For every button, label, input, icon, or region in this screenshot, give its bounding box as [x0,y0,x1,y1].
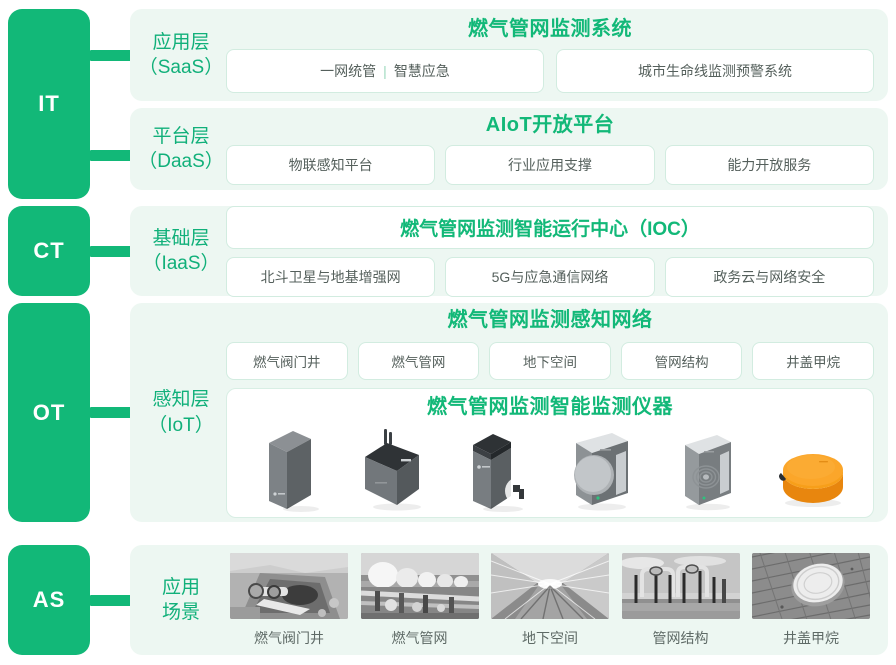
connector-it-daas [90,150,132,161]
orange-round-manhole-sensor-icon [771,425,851,513]
pipeline-structure-photo [622,553,740,619]
row-application-layer: 应用层 （SaaS） 燃气管网监测系统 一网统管|智慧应急 城市生命线监测预警系… [130,9,888,101]
scenario-item[interactable]: 燃气阀门井 [230,553,348,648]
device-tall-grey-box-sensor [246,421,332,513]
scenario-label: 井盖甲烷 [783,628,839,648]
device-panel-title: 燃气管网监测智能监测仪器 [237,395,863,419]
saas-body: 燃气管网监测系统 一网统管|智慧应急 城市生命线监测预警系统 [226,17,888,93]
valve-chamber-photo-icon [230,553,348,619]
as-body: 燃气阀门井 [226,553,888,648]
layer-label-saas: 应用层 （SaaS） [130,30,226,80]
pill-daas-1[interactable]: 物联感知平台 [226,145,435,185]
pill-saas-2[interactable]: 城市生命线监测预警系统 [556,49,874,93]
scenario-label: 管网结构 [653,628,709,648]
pill-iot-2[interactable]: 燃气管网 [358,342,480,380]
scenario-label: 地下空间 [522,628,578,648]
scenario-label: 燃气管网 [392,628,448,648]
architecture-diagram: IT CT OT AS 应用层 （SaaS） 燃气管网监测系统 一网统管|智慧应… [0,0,896,665]
row-sensing-layer: 感知层 （IoT） 燃气管网监测感知网络 燃气阀门井 燃气管网 地下空间 管网结… [130,303,888,522]
underground-tunnel-photo-icon [491,553,609,619]
layer-label-daas: 平台层 （DaaS） [130,124,226,174]
iot-pill-row: 燃气阀门井 燃气管网 地下空间 管网结构 井盖甲烷 [226,342,874,380]
pillar-ct: CT [8,206,90,296]
valve-chamber-photo [230,553,348,619]
grey-box-with-probe-sensor-icon [461,425,535,513]
pipeline-structure-photo-icon [622,553,740,619]
pill-iot-1[interactable]: 燃气阀门井 [226,342,348,380]
gas-pipeline-network-photo [361,553,479,619]
pill-iaas-3[interactable]: 政务云与网络安全 [665,257,874,297]
tall-grey-box-sensor-icon [259,425,319,513]
pill-iaas-1[interactable]: 北斗卫星与地基增强网 [226,257,435,297]
pill-iaas-2[interactable]: 5G与应急通信网络 [445,257,654,297]
pill-iot-5[interactable]: 井盖甲烷 [752,342,874,380]
saas-title: 燃气管网监测系统 [226,17,874,41]
device-panel: 燃气管网监测智能监测仪器 [226,388,874,518]
row-application-scenarios: 应用 场景 [130,545,888,655]
pill-saas-1[interactable]: 一网统管|智慧应急 [226,49,544,93]
pill-iot-3[interactable]: 地下空间 [489,342,611,380]
layer-label-iot: 感知层 （IoT） [130,387,226,437]
device-strip [237,421,863,513]
saas-pill-row: 一网统管|智慧应急 城市生命线监测预警系统 [226,49,874,93]
row-infrastructure-layer: 基础层 （IaaS） 燃气管网监测智能运行中心（IOC） 北斗卫星与地基增强网 … [130,206,888,296]
pillar-it: IT [8,9,90,199]
connector-as-scenarios [90,595,132,606]
pillar-ot-label: OT [33,400,66,426]
scenario-item[interactable]: 管网结构 [622,553,740,648]
round-dial-wall-sensor-icon [566,425,638,513]
pill-iot-4[interactable]: 管网结构 [621,342,743,380]
device-round-dial-wall-sensor [559,421,645,513]
scenario-item[interactable]: 井盖甲烷 [752,553,870,648]
iot-body: 燃气管网监测感知网络 燃气阀门井 燃气管网 地下空间 管网结构 井盖甲烷 燃气管… [226,308,888,518]
pill-saas-1-left: 一网统管 [320,63,376,79]
daas-pill-row: 物联感知平台 行业应用支撑 能力开放服务 [226,145,874,185]
scenario-label: 燃气阀门井 [254,628,324,648]
ripple-panel-wall-sensor-icon [673,425,739,513]
pillar-ot: OT [8,303,90,522]
flat-grey-antenna-sensor-icon [357,425,429,513]
device-flat-grey-antenna-sensor [350,421,436,513]
connector-it-saas [90,50,132,61]
pillar-ct-label: CT [33,238,64,264]
daas-title: AIoT开放平台 [226,113,874,137]
iot-title: 燃气管网监测感知网络 [226,308,874,332]
pill-daas-3[interactable]: 能力开放服务 [665,145,874,185]
manhole-cover-photo-icon [752,553,870,619]
pill-daas-2[interactable]: 行业应用支撑 [445,145,654,185]
pill-saas-1-separator: | [383,63,387,79]
row-platform-layer: 平台层 （DaaS） AIoT开放平台 物联感知平台 行业应用支撑 能力开放服务 [130,108,888,190]
underground-tunnel-photo [491,553,609,619]
pill-saas-1-right: 智慧应急 [394,63,450,79]
iaas-pill-row: 北斗卫星与地基增强网 5G与应急通信网络 政务云与网络安全 [226,257,874,297]
scenario-item[interactable]: 地下空间 [491,553,609,648]
manhole-cover-photo [752,553,870,619]
scenario-list: 燃气阀门井 [226,553,874,648]
pillar-it-label: IT [38,91,60,117]
connector-ct-iaas [90,246,132,257]
device-orange-round-manhole-sensor [768,421,854,513]
iaas-body: 燃气管网监测智能运行中心（IOC） 北斗卫星与地基增强网 5G与应急通信网络 政… [226,206,888,297]
connector-ot-iot [90,407,132,418]
scenario-item[interactable]: 燃气管网 [361,553,479,648]
device-ripple-panel-wall-sensor [663,421,749,513]
pillar-as-label: AS [33,587,66,613]
layer-label-as: 应用 场景 [130,575,226,625]
daas-body: AIoT开放平台 物联感知平台 行业应用支撑 能力开放服务 [226,113,888,185]
iaas-title-pill: 燃气管网监测智能运行中心（IOC） [226,206,874,249]
layer-label-iaas: 基础层 （IaaS） [130,226,226,276]
device-grey-box-with-probe-sensor [455,421,541,513]
gas-pipeline-network-photo-icon [361,553,479,619]
pillar-as: AS [8,545,90,655]
